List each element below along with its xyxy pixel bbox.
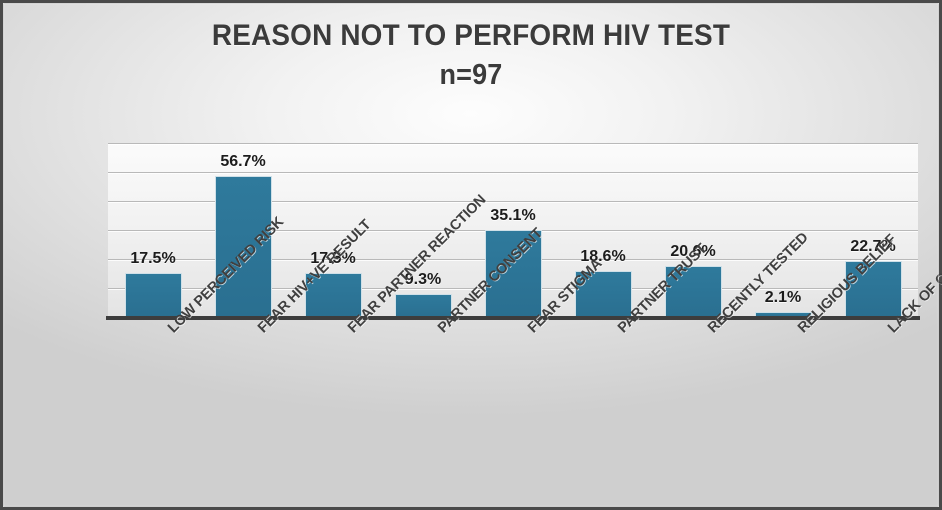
bar-value-label: 56.7% [220, 153, 265, 171]
chart-subtitle: n=97 [36, 57, 906, 93]
page-title: REASON NOT TO PERFORM HIV TEST [36, 19, 906, 53]
bar-slot: 17.5% [108, 143, 198, 317]
bar[interactable] [125, 273, 182, 317]
bar-series: 17.5%56.7%17.5%9.3%35.1%18.6%20.6%2.1%22… [108, 143, 918, 317]
title-block: REASON NOT TO PERFORM HIV TEST n=97 [3, 19, 939, 93]
bar-value-label: 17.5% [130, 250, 175, 268]
bar-value-label: 35.1% [490, 207, 535, 225]
plot-area: 17.5%56.7%17.5%9.3%35.1%18.6%20.6%2.1%22… [108, 143, 918, 317]
bar[interactable] [395, 294, 452, 317]
x-axis-line [106, 316, 920, 320]
chart-figure: REASON NOT TO PERFORM HIV TEST n=97 17.5… [0, 0, 942, 510]
bar-value-label: 2.1% [765, 289, 801, 307]
